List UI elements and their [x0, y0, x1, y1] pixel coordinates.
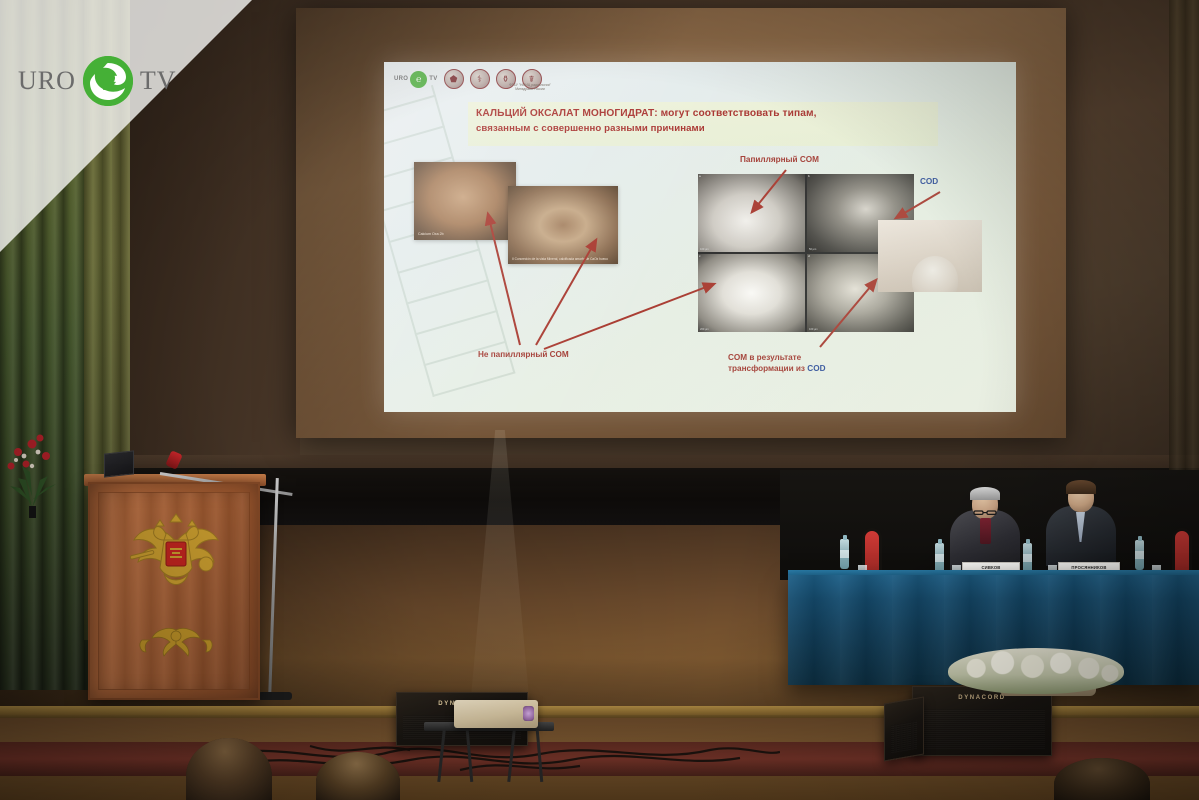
- slide-urotv-logo: URO ℮ TV: [394, 71, 438, 88]
- projector-stand-leg-1: [437, 730, 445, 782]
- speaker-right-monitor: [884, 696, 924, 761]
- microphone-stand-base: [258, 692, 292, 700]
- sem-panel-a-label: a: [699, 174, 701, 178]
- projector-stand-leg-4: [536, 730, 544, 782]
- slide-inset-room-photo: [878, 220, 982, 292]
- slide-label-papillary-com: Папиллярный COM: [740, 154, 819, 165]
- emblem-caption-line2: Минздрава России: [502, 87, 558, 91]
- presenter-laptop: [104, 450, 134, 477]
- sem-panel-c: c 200 µm: [698, 254, 805, 332]
- sem-panel-d-scale: 100 µm: [809, 328, 818, 331]
- slide-photo-stone-b: II Concreción de la vista Mineral, calci…: [508, 186, 618, 264]
- audience-head-silhouette-on-screen: [912, 256, 958, 292]
- sem-panel-c-scale: 200 µm: [700, 328, 709, 331]
- speaker-right-grille: [919, 709, 1045, 749]
- transform-cod: COD: [807, 364, 825, 373]
- sem-panel-b-label: b: [808, 174, 810, 178]
- slide-photo-stone-a-caption: Calcium Oxa 2b: [418, 232, 444, 236]
- projector-lens-icon: [523, 706, 534, 721]
- speaker-right-dynacord: DYNACORD: [912, 686, 1052, 756]
- panelist-prosyannikov-hair: [1066, 480, 1096, 494]
- flower-vase-left: [2, 408, 62, 518]
- slide-title-line1: КАЛЬЦИЙ ОКСАЛАТ МОНОГИДРАТ: могут соотве…: [476, 106, 926, 122]
- emblem-rosminzdrav-icon: ⬟: [444, 69, 464, 89]
- slide-photo-stone-a: Calcium Oxa 2b: [414, 162, 516, 240]
- slide-label-com-transformation: COM в результате трансформации из COD: [728, 352, 825, 374]
- sem-panel-a-scale: 100 µm: [700, 248, 709, 251]
- slide-urotv-label-right: TV: [429, 76, 437, 82]
- slide-label-com-transformation-line2: трансформации из COD: [728, 363, 825, 374]
- eyeglasses-icon: [973, 502, 998, 507]
- sem-panel-a: a 100 µm: [698, 174, 805, 252]
- projector-stand-leg-3: [507, 730, 515, 782]
- water-bottle-1: [840, 539, 849, 569]
- projector-stand: [424, 722, 554, 780]
- panelist-sivkov-shirt: [980, 518, 991, 544]
- slide-label-com-transformation-line1: COM в результате: [728, 352, 825, 363]
- panelist-sivkov-hair: [970, 487, 1000, 500]
- slide-label-non-papillary-com: Не папиллярный COM: [478, 349, 569, 360]
- flower-arrangement-front: [948, 648, 1124, 694]
- emblem-asclepius-icon: ⚕: [470, 69, 490, 89]
- slide-title-line2: связанным с совершенно разными причинами: [476, 122, 926, 137]
- russian-coat-of-arms-icon: [122, 512, 230, 598]
- sem-panel-b-scale: 50 µm: [809, 248, 816, 251]
- projector-stand-leg-2: [466, 730, 474, 782]
- stage-curtain-right: [1169, 0, 1199, 470]
- slide-urotv-label-left: URO: [394, 76, 408, 82]
- speaker-podium: [88, 482, 260, 700]
- sem-panel-d-label: d: [808, 254, 810, 258]
- slide-label-cod: COD: [920, 176, 938, 187]
- panel-chair-right: [1172, 528, 1192, 576]
- slide-title: КАЛЬЦИЙ ОКСАЛАТ МОНОГИДРАТ: могут соотве…: [476, 106, 926, 137]
- transform-text: трансформации из: [728, 364, 807, 373]
- speaker-right-monitor-grille: [891, 721, 917, 754]
- conference-hall-scene: URO ℮ TV ⬟ ⚕ ⚱ ☤ ФГБУ "НМИЦ радиологии" …: [0, 0, 1199, 800]
- sem-panel-c-label: c: [699, 254, 701, 258]
- slide-emblem-caption: ФГБУ "НМИЦ радиологии" Минздрава России: [502, 83, 558, 92]
- slide-photo-stone-b-caption: II Concreción de la vista Mineral, calci…: [512, 257, 608, 261]
- presentation-slide: URO ℮ TV ⬟ ⚕ ⚱ ☤ ФГБУ "НМИЦ радиологии" …: [384, 62, 1016, 412]
- urotv-leaf-icon: ℮: [410, 71, 427, 88]
- water-bottle-3: [1023, 543, 1032, 573]
- water-bottle-2: [935, 543, 944, 573]
- projector-device: [454, 700, 538, 728]
- water-bottle-4: [1135, 540, 1144, 570]
- podium-scroll-ornament: [134, 624, 218, 658]
